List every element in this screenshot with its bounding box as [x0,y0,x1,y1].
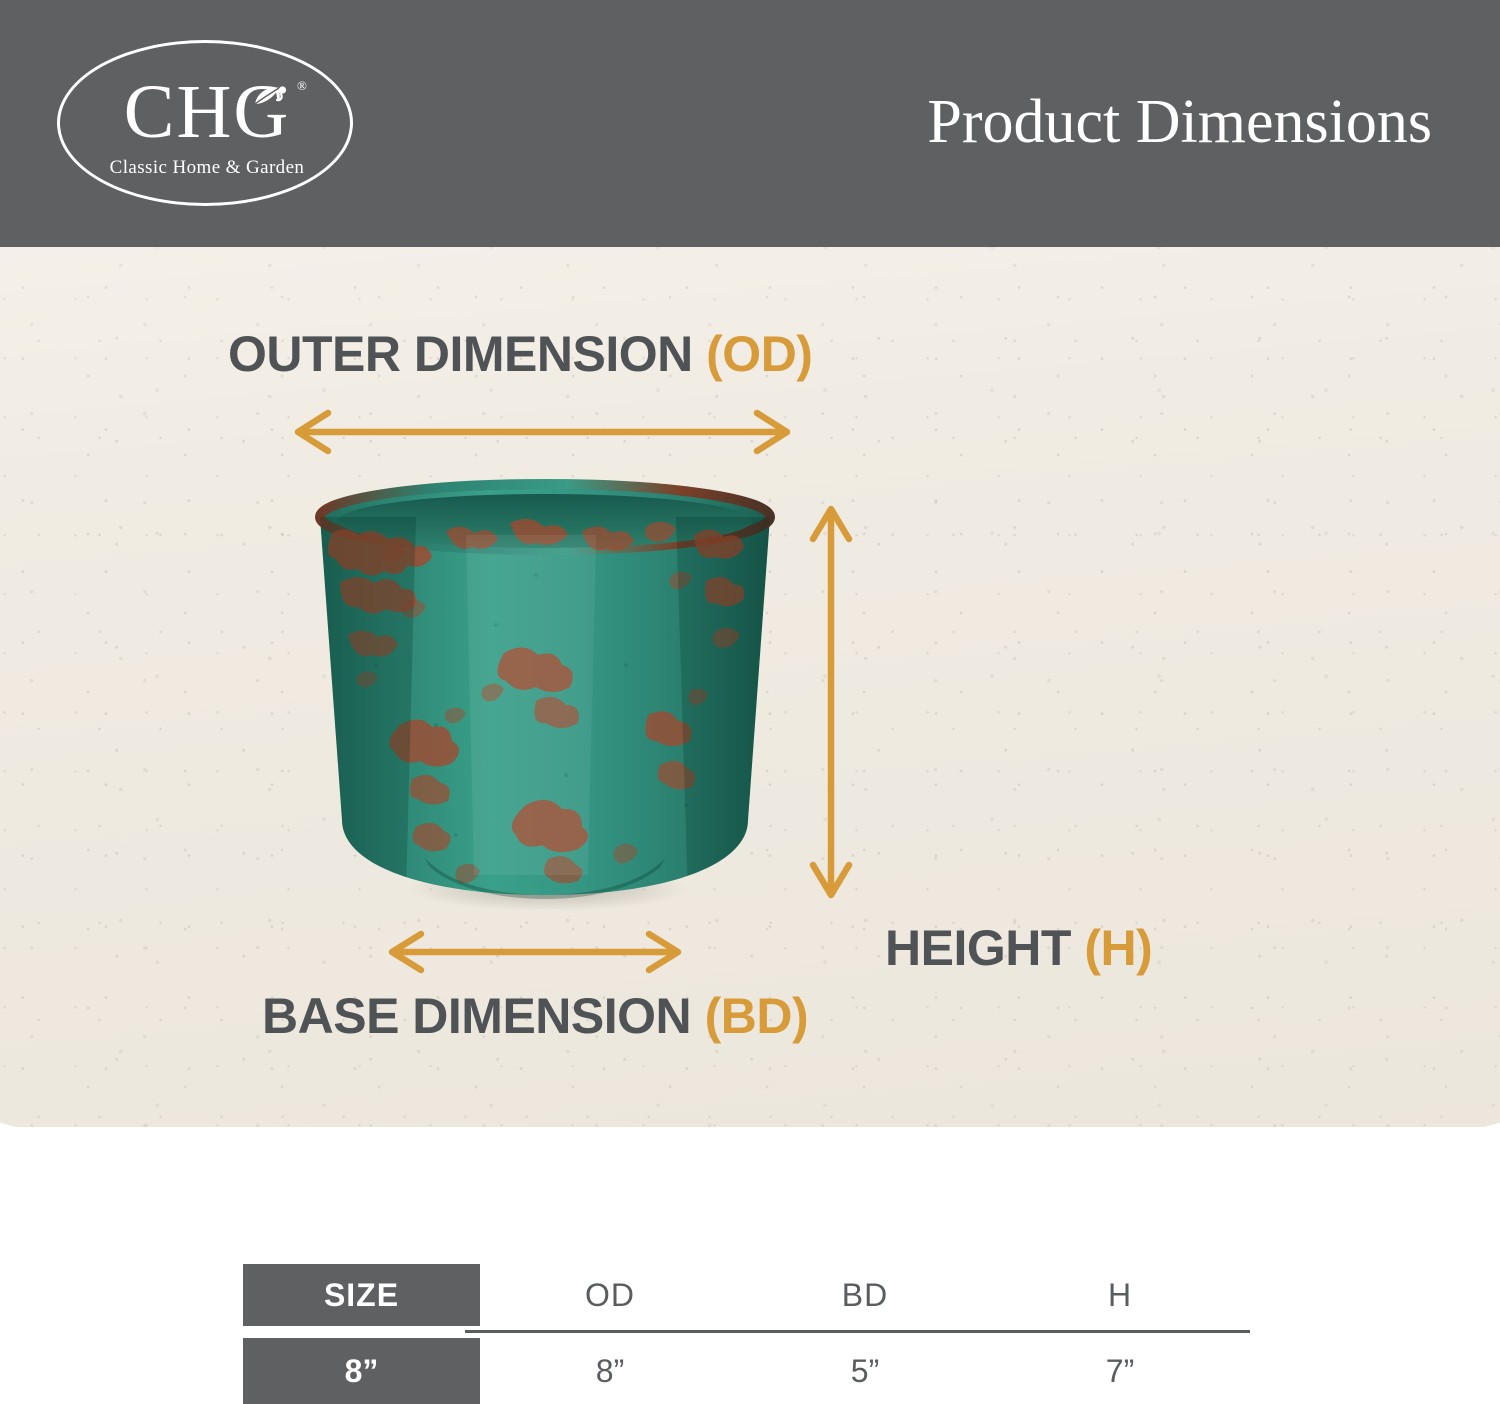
table-header-row: SIZE OD BD H [0,1264,1500,1326]
logo-monogram: CHG [57,74,357,150]
brand-logo: CHG ® Classic Home & Garden [57,40,357,210]
table-cell-size-value: 8” [345,1353,379,1390]
table-cell-h-value: 7” [1106,1353,1134,1390]
label-height-abbr: (H) [1084,920,1152,976]
table-cell-od-value: 8” [596,1353,624,1390]
table-cell-bd: 5” [755,1338,975,1404]
table-divider [465,1330,1250,1333]
bd-arrow [385,929,685,974]
table-row: 8” 8” 5” 7” [0,1338,1500,1404]
table-header-cell-h: H [1010,1264,1230,1326]
table-cell-od: 8” [500,1338,720,1404]
page-title: Product Dimensions [927,88,1432,156]
table-header-h-label: H [1108,1277,1132,1314]
table-header-bd-label: BD [842,1277,888,1314]
table-header-cell-od: OD [500,1264,720,1326]
table-cell-h: 7” [1010,1338,1230,1404]
label-outer-dimension-abbr: (OD) [706,326,812,382]
product-dimension-diagram: OUTER DIMENSION (OD) [0,247,1500,1127]
header-bar: CHG ® Classic Home & Garden Product Dime… [0,0,1500,247]
height-arrow [808,502,854,902]
logo-tagline: Classic Home & Garden [57,157,357,179]
table-header-cell-size: SIZE [243,1264,480,1326]
table-cell-bd-value: 5” [851,1353,879,1390]
label-height-text: HEIGHT [885,920,1071,976]
label-outer-dimension-text: OUTER DIMENSION [228,326,693,382]
label-outer-dimension: OUTER DIMENSION (OD) [228,325,812,383]
od-arrow [290,407,795,457]
label-base-dimension-abbr: (BD) [705,988,809,1044]
label-height: HEIGHT (H) [885,919,1152,977]
table-header-cell-bd: BD [755,1264,975,1326]
registered-trademark-icon: ® [297,78,307,94]
table-header-size-label: SIZE [324,1277,399,1314]
leaf-sprig-icon [253,84,287,114]
planter-pot-image [296,475,794,921]
label-base-dimension-text: BASE DIMENSION [262,988,691,1044]
label-base-dimension: BASE DIMENSION (BD) [262,987,808,1045]
table-cell-size: 8” [243,1338,480,1404]
table-header-od-label: OD [585,1277,635,1314]
